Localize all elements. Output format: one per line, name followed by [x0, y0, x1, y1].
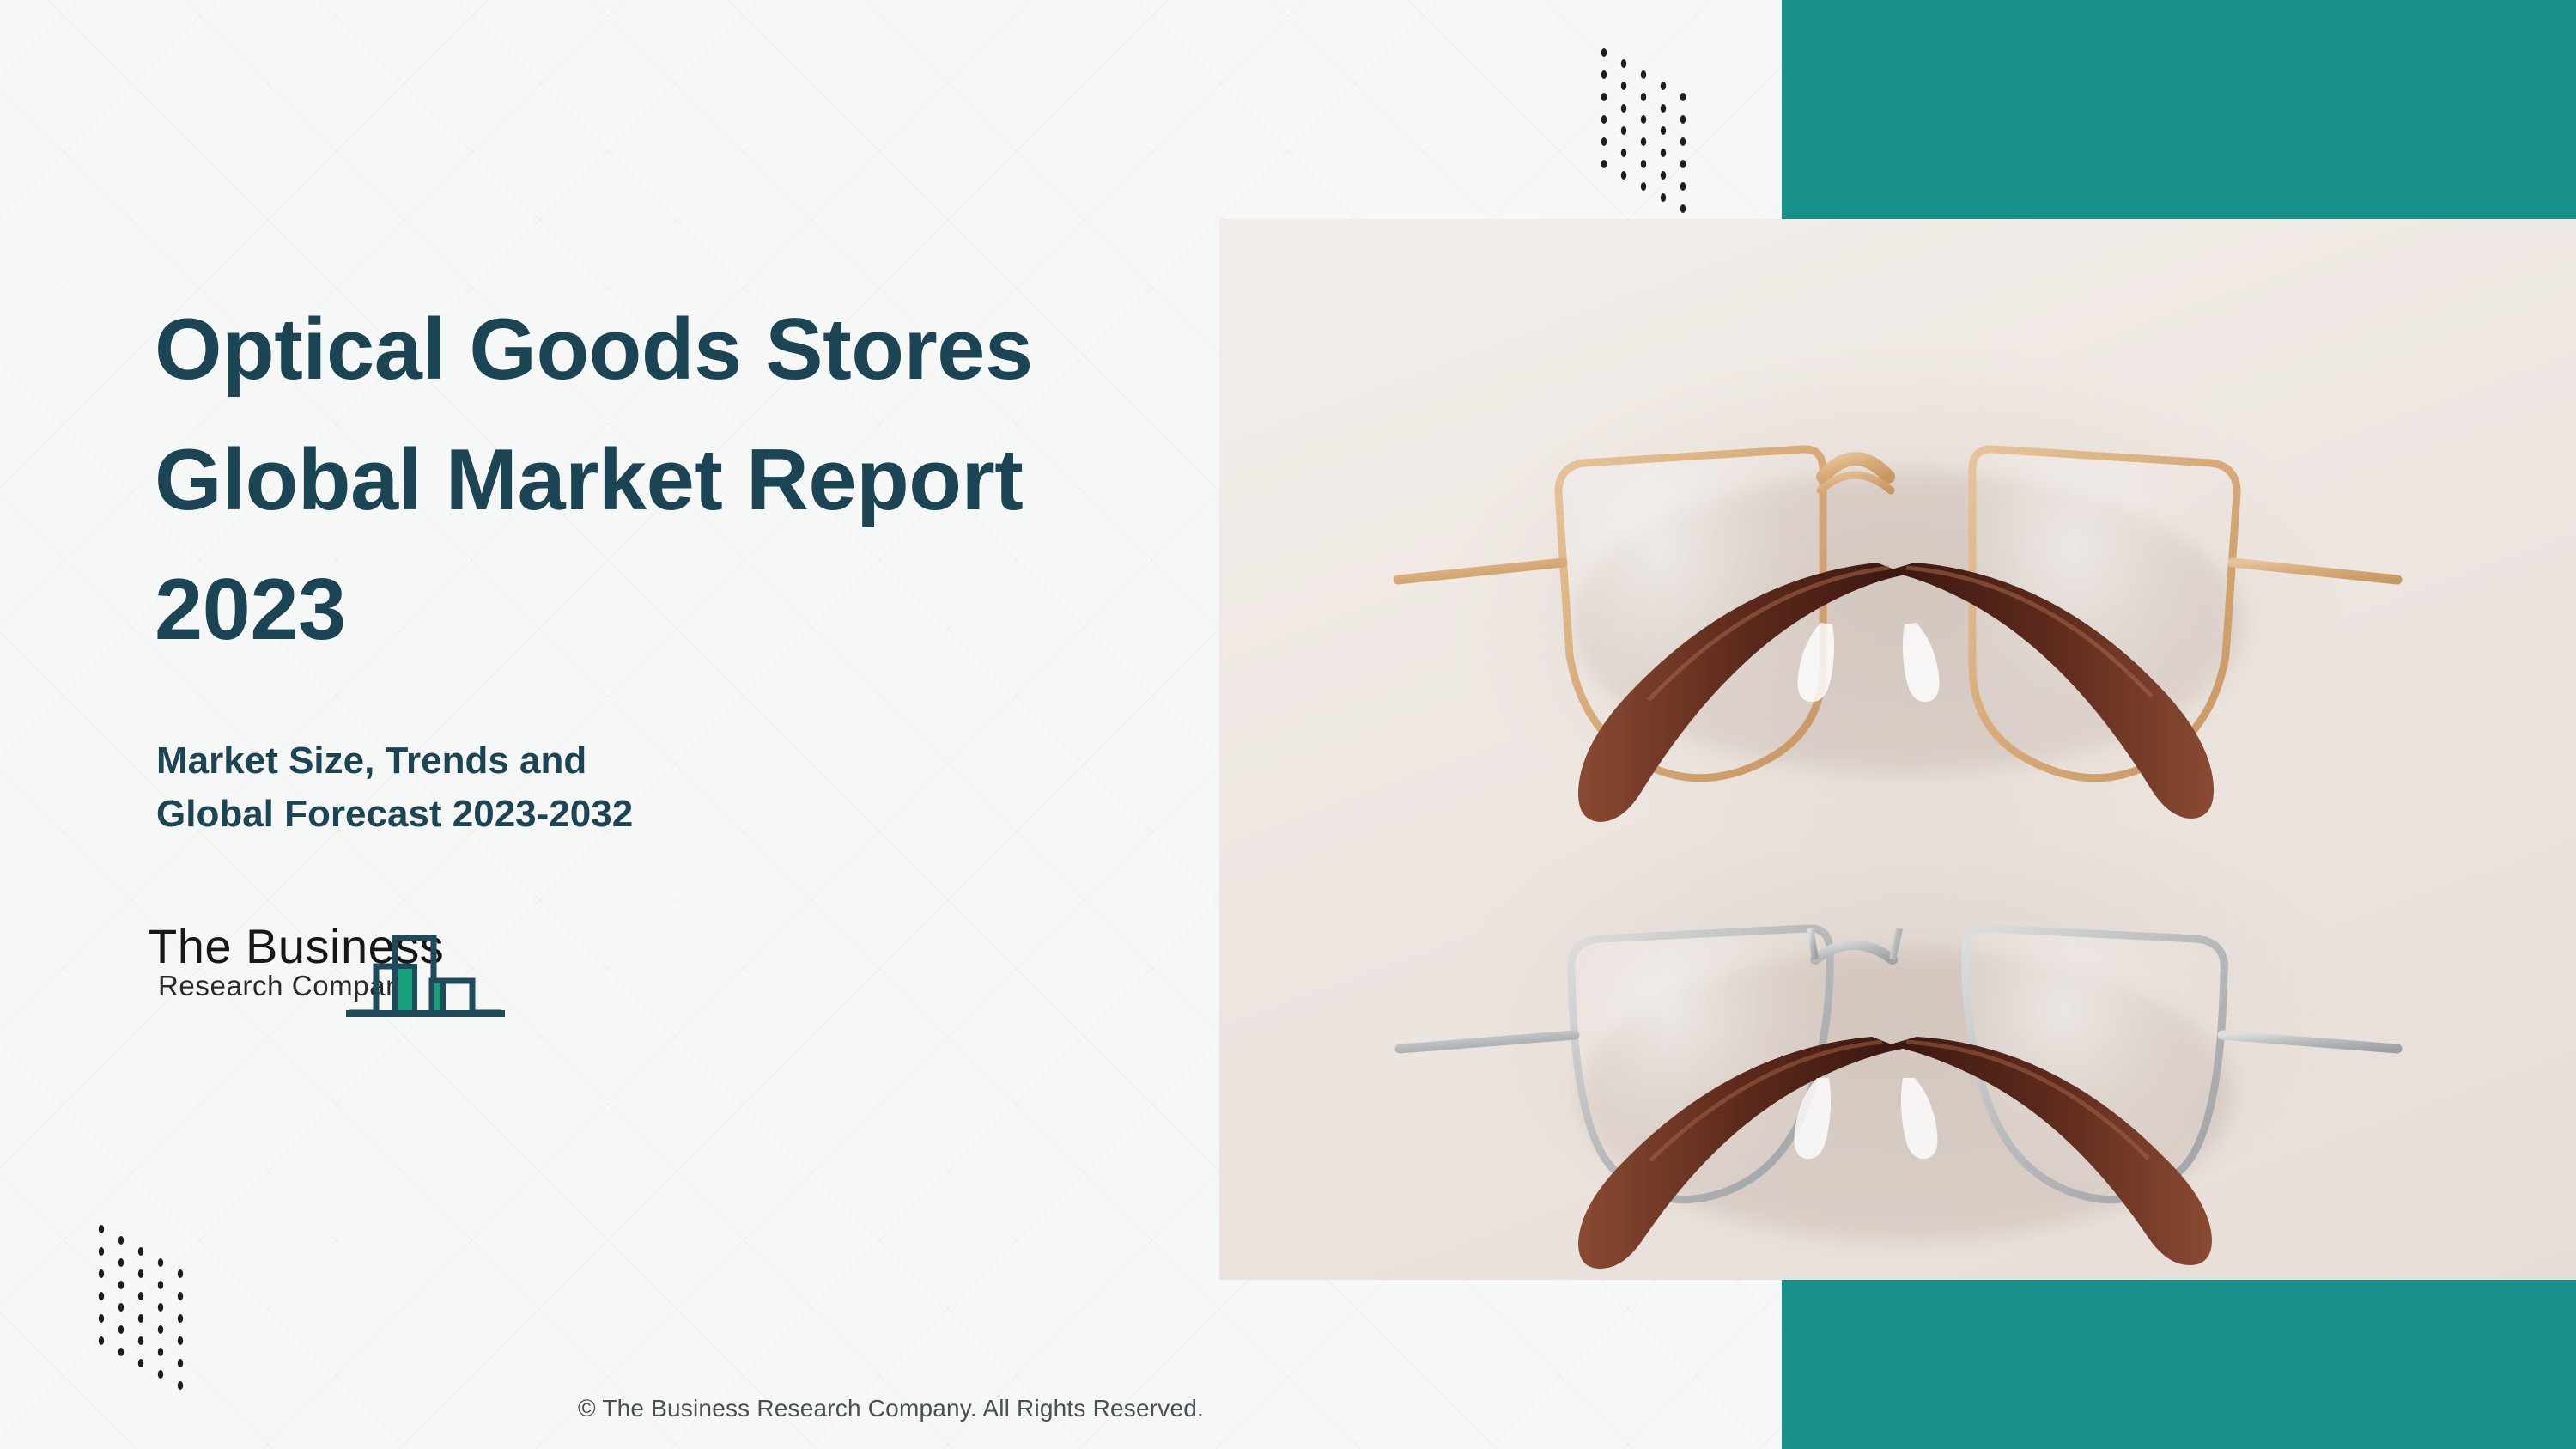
dot-grid-decoration-top-right [1587, 24, 1786, 230]
teal-accent-block-top-right [1782, 0, 2576, 221]
page-title-line-2: Global Market Report [155, 416, 1211, 546]
hero-photo-eyeglasses [1219, 219, 2576, 1280]
page-subtitle: Market Size, Trends and Global Forecast … [156, 734, 929, 840]
teal-accent-block-bottom-right [1782, 1280, 2576, 1449]
page-title-line-3: 2023 [155, 545, 1211, 676]
page-subtitle-line-1: Market Size, Trends and [156, 734, 929, 788]
dot-grid-decoration-bottom-left [84, 1201, 283, 1407]
copyright-footer: © The Business Research Company. All Rig… [0, 1395, 1782, 1422]
company-logo[interactable]: The Business Research Company [148, 898, 577, 1044]
page-subtitle-line-2: Global Forecast 2023-2032 [156, 788, 929, 841]
eyeglasses-illustration [1219, 219, 2576, 1280]
report-cover-slide: Optical Goods Stores Global Market Repor… [0, 0, 2576, 1449]
page-title: Optical Goods Stores Global Market Repor… [155, 285, 1211, 676]
page-title-line-1: Optical Goods Stores [155, 285, 1211, 416]
